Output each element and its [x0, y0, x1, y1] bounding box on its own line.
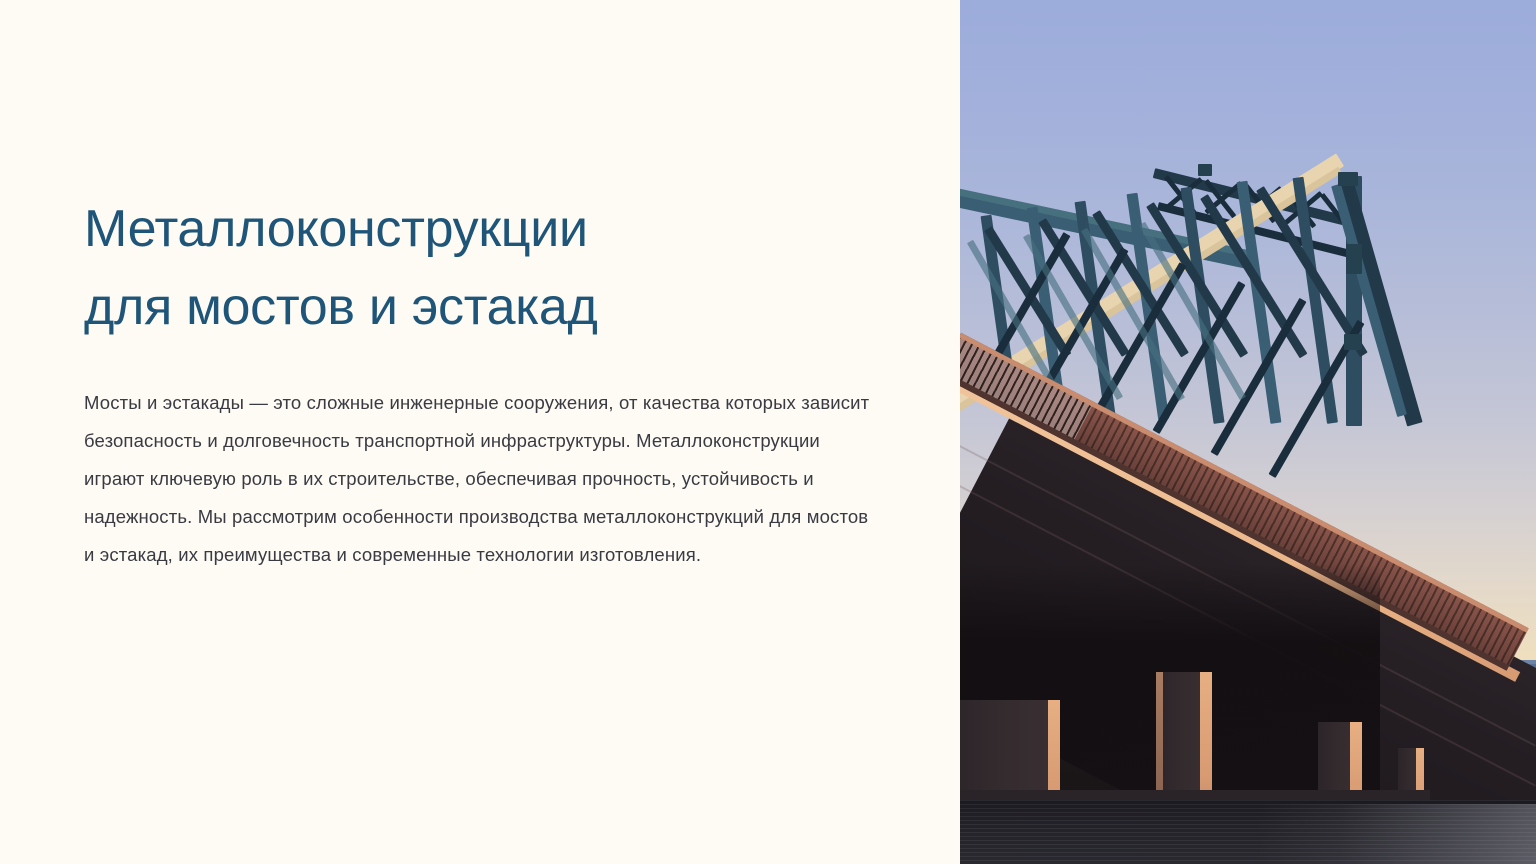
text-block: Металлоконструкции для мостов и эстакад … — [84, 190, 884, 574]
bridge-photo — [960, 0, 1536, 864]
text-panel: Металлоконструкции для мостов и эстакад … — [0, 0, 960, 864]
intro-paragraph: Мосты и эстакады — это сложные инженерны… — [84, 384, 874, 574]
slide-root: Металлоконструкции для мостов и эстакад … — [0, 0, 1536, 864]
river-water — [960, 800, 1536, 864]
page-title: Металлоконструкции для мостов и эстакад — [84, 190, 884, 346]
photo-stage — [960, 0, 1536, 864]
